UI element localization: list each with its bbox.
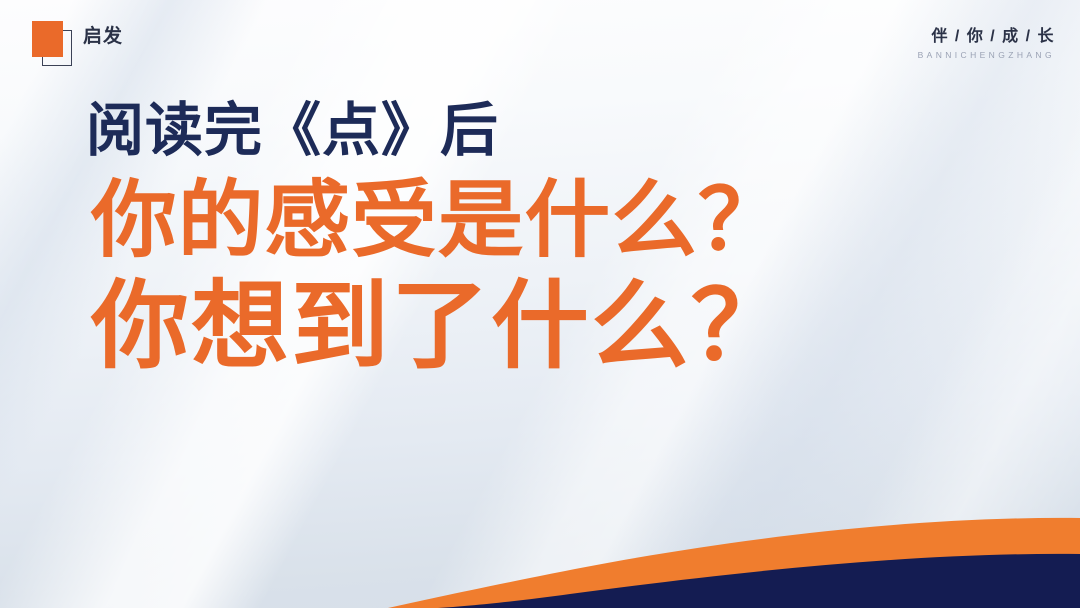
headline-line-3: 你想到了什么？ [91,274,791,380]
brand-tagline: 伴 / 你 / 成 / 长 BANNICHENGZHANG [918,28,1055,60]
headline-line-1: 阅读完《点》后 [86,100,777,163]
logo-filled-square [32,21,63,57]
headline-block: 阅读完《点》后 你的感受是什么？ 你想到了什么？ [86,100,777,380]
logo-label: 启发 [83,27,123,46]
tagline-pinyin: BANNICHENGZHANG [918,51,1055,60]
slide-canvas: 启发 伴 / 你 / 成 / 长 BANNICHENGZHANG 阅读完《点》后… [0,0,1080,608]
headline-line-2: 你的感受是什么？ [91,173,791,269]
tagline-chinese: 伴 / 你 / 成 / 长 [918,28,1055,46]
logo-icon [32,21,74,68]
bottom-wave-decoration [0,498,1080,608]
